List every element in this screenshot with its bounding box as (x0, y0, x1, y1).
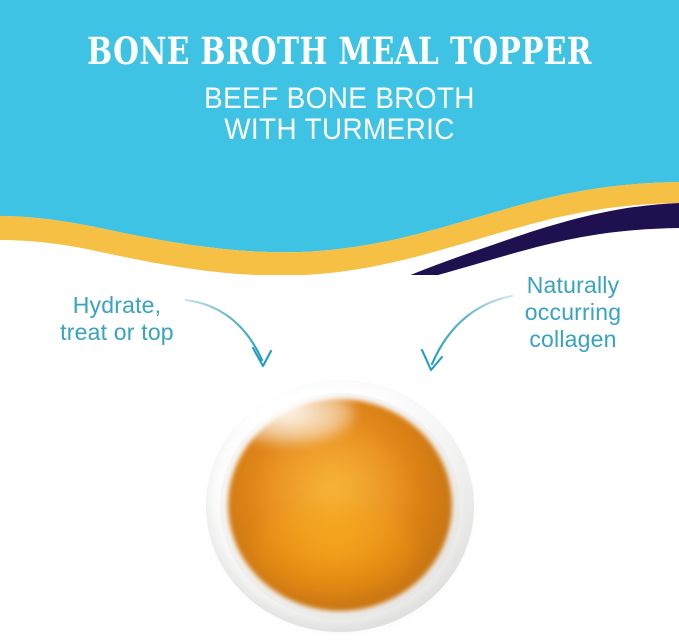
product-infographic: BONE BROTH MEAL TOPPER BEEF BONE BROTH W… (0, 0, 679, 644)
wave-cyan-shape (0, 0, 679, 252)
bowl-of-beef-bone-broth (198, 372, 482, 636)
bowl-rim-specular-highlight (224, 382, 354, 444)
broth-lower-pool (252, 504, 418, 596)
curved-arrow-down-left-icon (422, 296, 512, 370)
header-wave-banner (0, 0, 679, 275)
curved-arrow-down-right-icon (186, 300, 271, 366)
